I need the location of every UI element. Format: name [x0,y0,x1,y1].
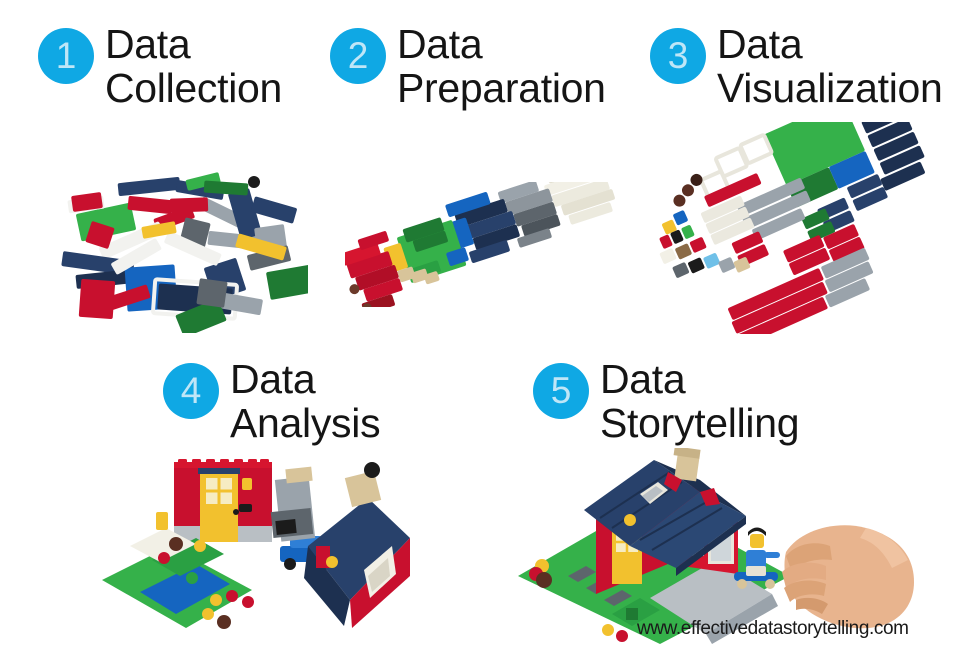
figure-lego-subassemblies [100,450,410,645]
step-2-heading: 2 Data Preparation [330,22,606,111]
lego-unsorted-pile-illustration [58,168,308,333]
step-2-number-badge: 2 [330,28,386,84]
step-1-number-badge: 1 [38,28,94,84]
step-5-number-badge: 5 [533,363,589,419]
lego-organized-grid-illustration [655,122,945,334]
red-wall-subassembly [174,459,272,542]
step-5-title: Data Storytelling [600,357,799,446]
figure-lego-organized-grid [655,122,945,334]
step-3-heading: 3 Data Visualization [650,22,943,111]
step-3-title: Data Visualization [717,22,943,111]
lego-color-band-illustration [345,182,630,307]
lego-finished-house-illustration [500,448,920,646]
step-3-number: 3 [668,37,689,74]
figure-lego-unsorted-pile [58,168,308,333]
step-4-heading: 4 Data Analysis [163,357,380,446]
human-hand [782,525,914,628]
step-4-number-badge: 4 [163,363,219,419]
step-5-number: 5 [551,372,572,409]
step-1-number: 1 [56,37,77,74]
figure-lego-finished-house-with-hand [500,448,920,646]
step-2-number: 2 [348,37,369,74]
site-url: www.effectivedatastorytelling.com [637,618,909,640]
lego-subassemblies-illustration [100,450,410,645]
step-3-number-badge: 3 [650,28,706,84]
step-4-number: 4 [181,372,202,409]
figure-lego-sorted-by-color-band [345,182,630,307]
step-1-title: Data Collection [105,22,282,111]
step-2-title: Data Preparation [397,22,606,111]
step-5-heading: 5 Data Storytelling [533,357,799,446]
step-1-heading: 1 Data Collection [38,22,282,111]
step-4-title: Data Analysis [230,357,380,446]
